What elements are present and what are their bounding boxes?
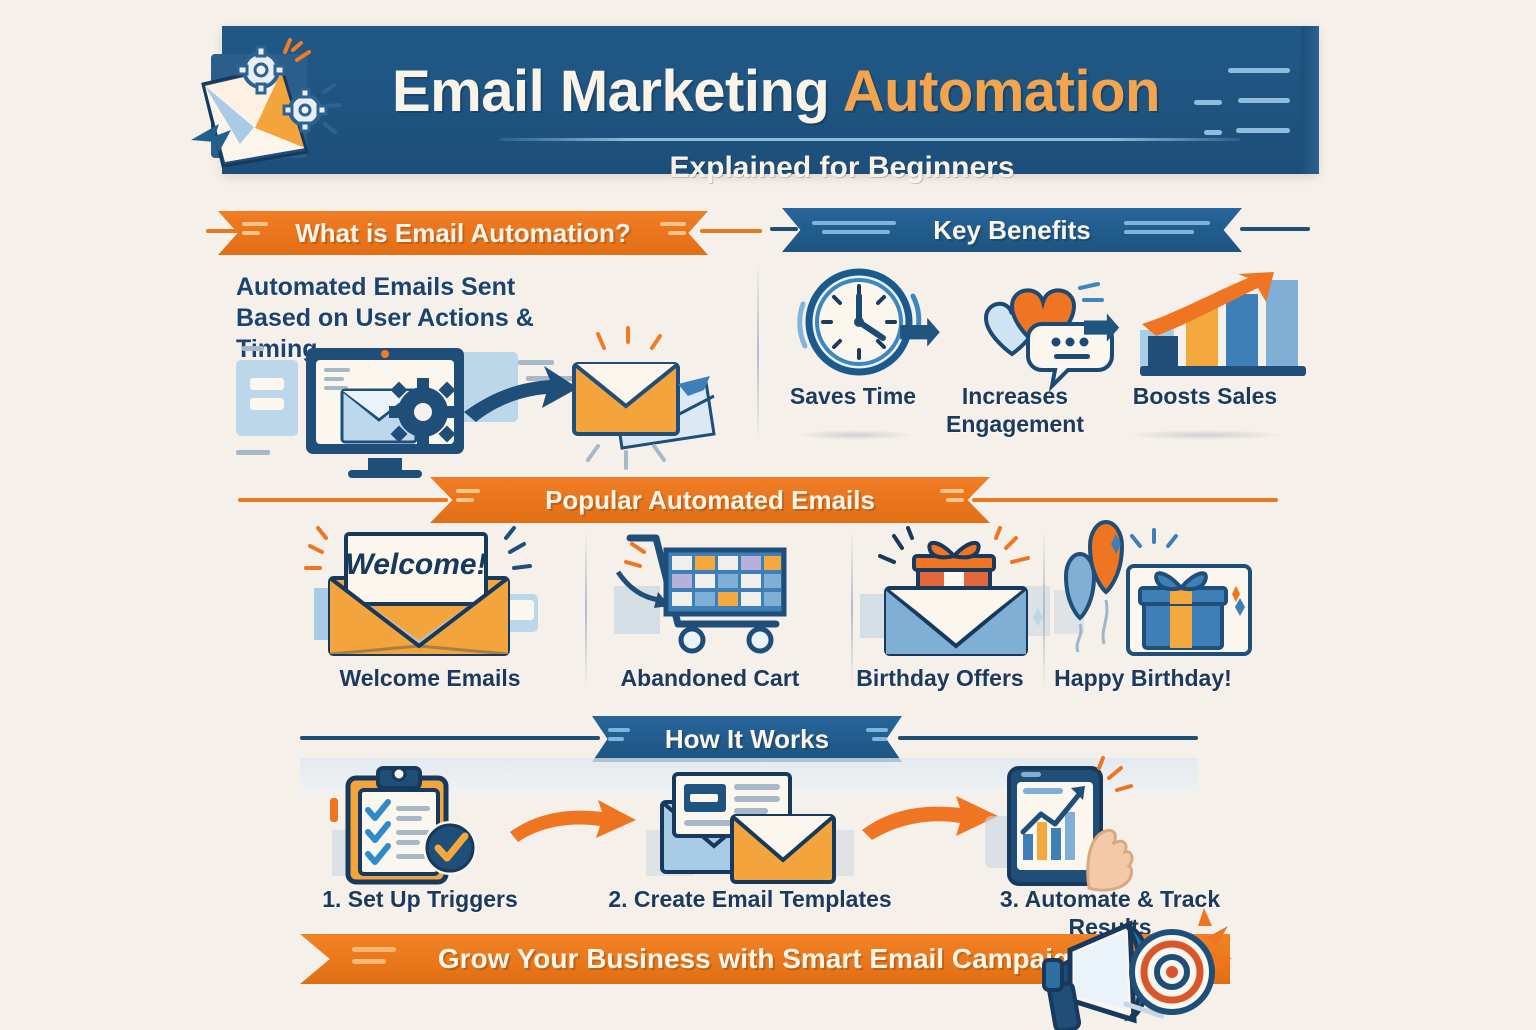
- what-banner-right-rule: [700, 229, 762, 233]
- ribbon-tick-icon-footer: [352, 947, 396, 971]
- envelope-gear-icon: [185, 48, 345, 168]
- shopping-cart-icon: [614, 528, 824, 658]
- email-template-icon: [646, 768, 856, 888]
- section-banner-what-is: What is Email Automation?: [218, 211, 708, 255]
- title-divider: [500, 138, 1240, 141]
- ribbon-tick-icon: [608, 728, 630, 750]
- ribbon-line-icon-right: [1124, 221, 1216, 243]
- section-title-popular-emails: Popular Automated Emails: [545, 485, 875, 516]
- header-banner: Email Marketing Automation Explained for…: [222, 26, 1318, 174]
- popular-label-happy-birthday: Happy Birthday!: [1048, 664, 1238, 692]
- ribbon-tick-icon: [242, 222, 268, 244]
- section-title-what-is: What is Email Automation?: [295, 218, 631, 249]
- benefit-label-increases-engagement: Increases Engagement: [925, 382, 1105, 438]
- popular-divider-1: [585, 530, 587, 690]
- arrow-right-icon-2: [860, 796, 1000, 844]
- step-label-set-up-triggers: 1. Set Up Triggers: [300, 885, 540, 913]
- popular-label-welcome-emails: Welcome Emails: [330, 664, 530, 692]
- popular-label-birthday-offers: Birthday Offers: [855, 664, 1025, 692]
- shadow: [795, 430, 915, 440]
- svg-text:Welcome!: Welcome!: [345, 548, 486, 581]
- clock-icon: [795, 270, 965, 380]
- hearts-chat-bubble-icon: [950, 272, 1140, 382]
- ribbon-tick-icon-right: [866, 728, 888, 750]
- page-subtitle: Explained for Beginners: [392, 151, 1292, 185]
- section-title-key-benefits: Key Benefits: [933, 215, 1091, 246]
- benefit-label-saves-time: Saves Time: [780, 382, 926, 410]
- popular-label-abandoned-cart: Abandoned Cart: [610, 664, 810, 692]
- section-banner-key-benefits: Key Benefits: [782, 208, 1242, 252]
- how-banner-right-rule: [898, 736, 1198, 740]
- step-label-create-email-templates: 2. Create Email Templates: [600, 885, 900, 913]
- popular-banner-right-rule: [972, 498, 1278, 502]
- shadow: [1125, 430, 1285, 440]
- popular-divider-2: [851, 530, 853, 690]
- key-banner-left-rule: [770, 227, 798, 231]
- popular-banner-left-rule: [238, 498, 448, 502]
- popular-divider-3: [1043, 530, 1045, 690]
- benefit-label-boosts-sales: Boosts Sales: [1125, 382, 1285, 410]
- megaphone-target-icon: [1030, 920, 1220, 1024]
- page-title: Email Marketing Automation: [392, 62, 1292, 126]
- page-title-accent: Automation: [843, 59, 1160, 124]
- growth-bar-chart-icon: [1140, 272, 1320, 384]
- section-title-how-it-works: How It Works: [665, 724, 829, 755]
- arrow-right-icon-1: [508, 800, 638, 846]
- section-banner-popular-emails: Popular Automated Emails: [430, 477, 990, 523]
- ribbon-tick-icon: [456, 489, 482, 511]
- page-title-main: Email Marketing: [392, 59, 843, 124]
- key-banner-right-rule: [1240, 227, 1310, 231]
- gift-envelope-icon: [860, 528, 1050, 658]
- how-banner-left-rule: [300, 736, 600, 740]
- phone-analytics-icon: [985, 762, 1165, 890]
- section-divider-vertical: [757, 262, 759, 442]
- ribbon-line-icon-left: [812, 221, 902, 243]
- infographic-canvas: Email Marketing Automation Explained for…: [0, 0, 1536, 1024]
- open-envelope-welcome-icon: Welcome!: [306, 528, 546, 658]
- balloons-gift-icon: [1054, 524, 1254, 660]
- section-banner-how-it-works: How It Works: [592, 716, 902, 762]
- ribbon-tick-icon-right: [660, 222, 686, 244]
- monitor-email-gear-icon: [236, 338, 736, 478]
- decorative-dashes: [1176, 68, 1296, 144]
- clipboard-checklist-icon: [330, 768, 500, 888]
- ribbon-tick-icon-right: [940, 489, 966, 511]
